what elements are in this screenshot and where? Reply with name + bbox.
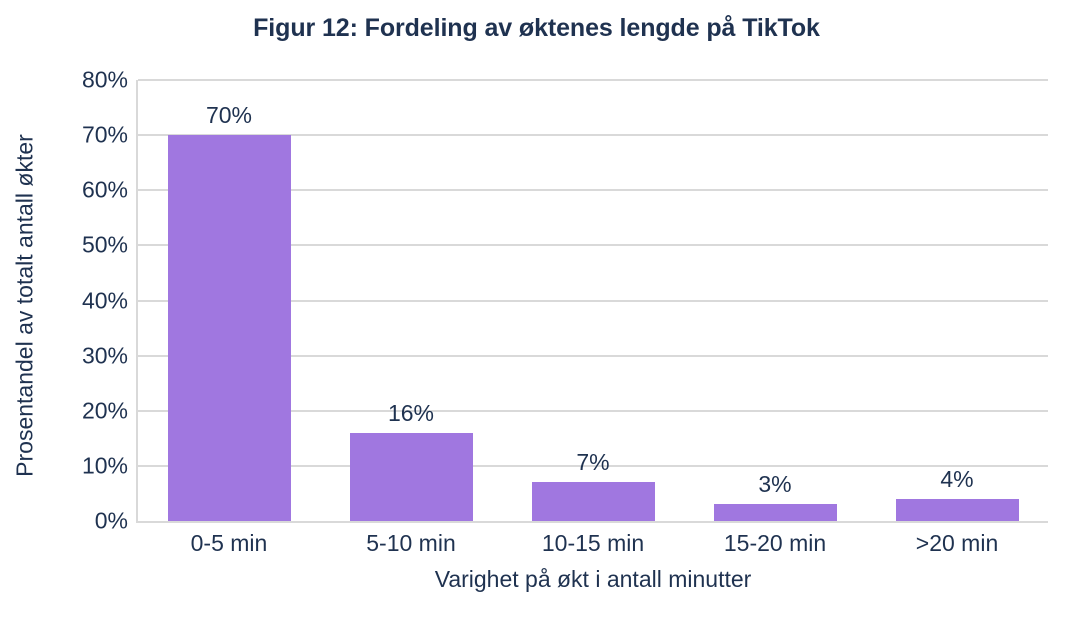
bar-value-label: 4% [866,466,1048,493]
bar[interactable] [350,433,473,521]
x-axis-ticks: 0-5 min5-10 min10-15 min15-20 min>20 min [138,530,1048,557]
bar-slot: 4% [866,80,1048,521]
x-axis-tick-label: 0-5 min [138,530,320,557]
bar[interactable] [896,499,1019,521]
y-axis-tick-label: 20% [48,397,128,424]
y-axis-tick-label: 70% [48,122,128,149]
y-axis-tick-label: 60% [48,177,128,204]
chart-figure: Figur 12: Fordeling av øktenes lengde på… [0,0,1073,634]
bar[interactable] [168,135,291,521]
y-axis-tick-label: 30% [48,342,128,369]
x-axis-title: Varighet på økt i antall minutter [138,566,1048,593]
y-axis-tick-label: 10% [48,452,128,479]
bar-slot: 7% [502,80,684,521]
y-axis-tick-label: 0% [48,508,128,535]
bar-value-label: 7% [502,449,684,476]
x-axis-tick-label: 10-15 min [502,530,684,557]
x-axis-tick-label: 5-10 min [320,530,502,557]
bar-slot: 70% [138,80,320,521]
x-axis-tick-label: 15-20 min [684,530,866,557]
bar-value-label: 3% [684,471,866,498]
bar[interactable] [532,482,655,521]
bars-layer: 70%16%7%3%4% [138,80,1048,521]
y-axis-tick-label: 50% [48,232,128,259]
y-axis-tick-label: 40% [48,287,128,314]
bar-slot: 16% [320,80,502,521]
bar[interactable] [714,504,837,521]
y-axis-tick-label: 80% [48,67,128,94]
bar-value-label: 70% [138,102,320,129]
x-axis-tick-label: >20 min [866,530,1048,557]
bar-slot: 3% [684,80,866,521]
bar-value-label: 16% [320,400,502,427]
